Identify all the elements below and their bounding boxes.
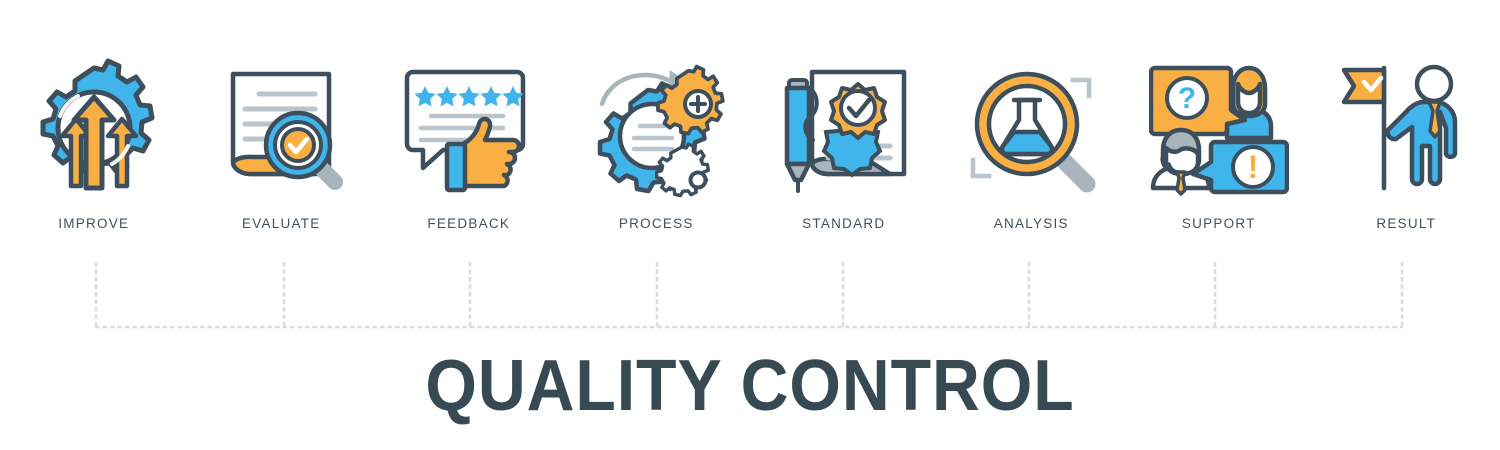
item-label: IMPROVE	[58, 216, 129, 231]
infographic-root: IMPROVE	[0, 0, 1500, 450]
item-label: RESULT	[1376, 216, 1436, 231]
item-evaluate[interactable]: EVALUATE	[188, 0, 376, 255]
item-improve[interactable]: IMPROVE	[0, 0, 188, 255]
question-exclamation-people-icon: ? !	[1144, 48, 1294, 208]
items-row: IMPROVE	[0, 0, 1500, 255]
item-result[interactable]: RESULT	[1313, 0, 1500, 255]
document-magnifier-check-icon	[206, 48, 356, 208]
pen-certificate-badge-icon	[769, 48, 919, 208]
gear-arrows-icon	[19, 48, 169, 208]
svg-text:!: !	[1247, 149, 1258, 185]
item-label: PROCESS	[619, 216, 694, 231]
page-title: QUALITY CONTROL	[60, 345, 1440, 427]
item-support[interactable]: ? ! SUPPORT	[1125, 0, 1313, 255]
person-flag-icon	[1331, 48, 1481, 208]
item-analysis[interactable]: ANALYSIS	[938, 0, 1126, 255]
item-standard[interactable]: STANDARD	[750, 0, 938, 255]
item-process[interactable]: PROCESS	[563, 0, 751, 255]
item-label: FEEDBACK	[427, 216, 510, 231]
item-label: SUPPORT	[1182, 216, 1256, 231]
gears-document-icon	[581, 48, 731, 208]
speech-bubble-stars-thumbsup-icon	[394, 48, 544, 208]
magnifier-flask-icon	[956, 48, 1106, 208]
item-feedback[interactable]: FEEDBACK	[375, 0, 563, 255]
item-label: ANALYSIS	[994, 216, 1069, 231]
svg-text:?: ?	[1178, 82, 1196, 115]
item-label: STANDARD	[802, 216, 885, 231]
item-label: EVALUATE	[242, 216, 321, 231]
dotted-connector	[0, 255, 1500, 335]
